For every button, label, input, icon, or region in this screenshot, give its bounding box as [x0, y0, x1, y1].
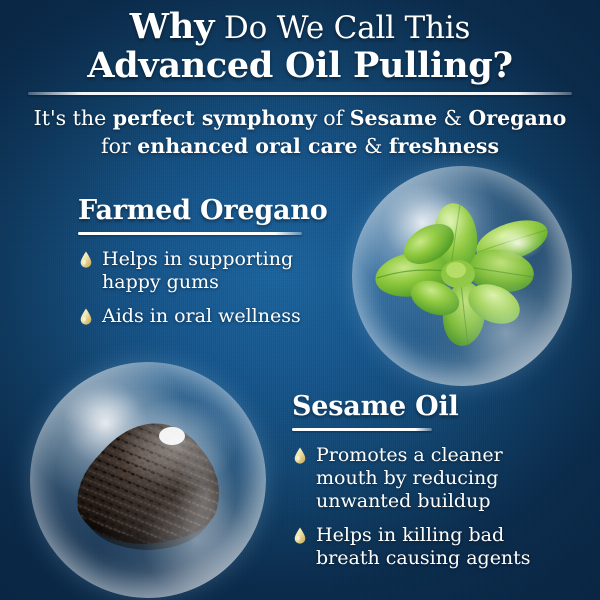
- subtitle-l1-mid: of: [317, 106, 350, 130]
- list-item: Helps in supporting happy gums: [78, 248, 308, 294]
- list-item-label: Aids in oral wellness: [102, 305, 301, 327]
- section-divider-sesame: [292, 428, 432, 431]
- list-item-label: Helps in supporting happy gums: [102, 248, 293, 293]
- page-title-line-1: Why Do We Call This: [0, 9, 600, 46]
- sesame-bubble: [30, 362, 266, 598]
- section-title-sesame: Sesame Oil: [292, 392, 554, 422]
- list-item: Promotes a cleaner mouth by reducing unw…: [292, 444, 554, 513]
- subtitle-l2-bold-2: freshness: [389, 134, 499, 158]
- page-title-emphasis: Why: [130, 6, 215, 47]
- header-divider: [28, 92, 572, 95]
- subtitle-line-2: for enhanced oral care & freshness: [0, 132, 600, 160]
- subtitle-l1-bold-1: perfect symphony: [113, 106, 317, 130]
- list-item: Aids in oral wellness: [78, 305, 308, 328]
- sesame-seeds-image: [30, 362, 266, 598]
- subtitle-l2-pre: for: [101, 134, 137, 158]
- list-item: Helps in killing bad breath causing agen…: [292, 524, 554, 570]
- oil-drop-icon: [80, 308, 92, 325]
- section-sesame-oil: Sesame Oil Promotes a cleaner mouth by r…: [292, 392, 554, 570]
- subtitle: It's the perfect symphony of Sesame & Or…: [0, 104, 600, 160]
- benefits-list-oregano: Helps in supporting happy gums Aids in o…: [78, 248, 308, 328]
- page-title-line-2: Advanced Oil Pulling?: [0, 46, 600, 86]
- subtitle-l2-amp: &: [358, 134, 389, 158]
- subtitle-line-1: It's the perfect symphony of Sesame & Or…: [0, 104, 600, 132]
- header: Why Do We Call This Advanced Oil Pulling…: [0, 0, 600, 160]
- oil-drop-icon: [294, 527, 306, 544]
- subtitle-l1-amp: &: [437, 106, 468, 130]
- section-farmed-oregano: Farmed Oregano: [78, 196, 308, 328]
- page-title-rest: Do We Call This: [214, 10, 470, 46]
- benefits-list-sesame: Promotes a cleaner mouth by reducing unw…: [292, 444, 554, 570]
- subtitle-l1-pre: It's the: [34, 106, 113, 130]
- subtitle-l1-bold-3: Oregano: [468, 106, 566, 130]
- oil-drop-icon: [80, 251, 92, 268]
- infographic-poster: Why Do We Call This Advanced Oil Pulling…: [0, 0, 600, 600]
- subtitle-l1-bold-2: Sesame: [350, 106, 437, 130]
- section-title-oregano: Farmed Oregano: [78, 196, 308, 226]
- subtitle-l2-bold-1: enhanced oral care: [137, 134, 357, 158]
- oil-drop-icon: [294, 447, 306, 464]
- oregano-bubble: [352, 166, 572, 386]
- list-item-label: Helps in killing bad breath causing agen…: [316, 524, 531, 569]
- oregano-leaves-image: [352, 166, 572, 386]
- section-divider-oregano: [78, 232, 302, 235]
- list-item-label: Promotes a cleaner mouth by reducing unw…: [316, 444, 503, 512]
